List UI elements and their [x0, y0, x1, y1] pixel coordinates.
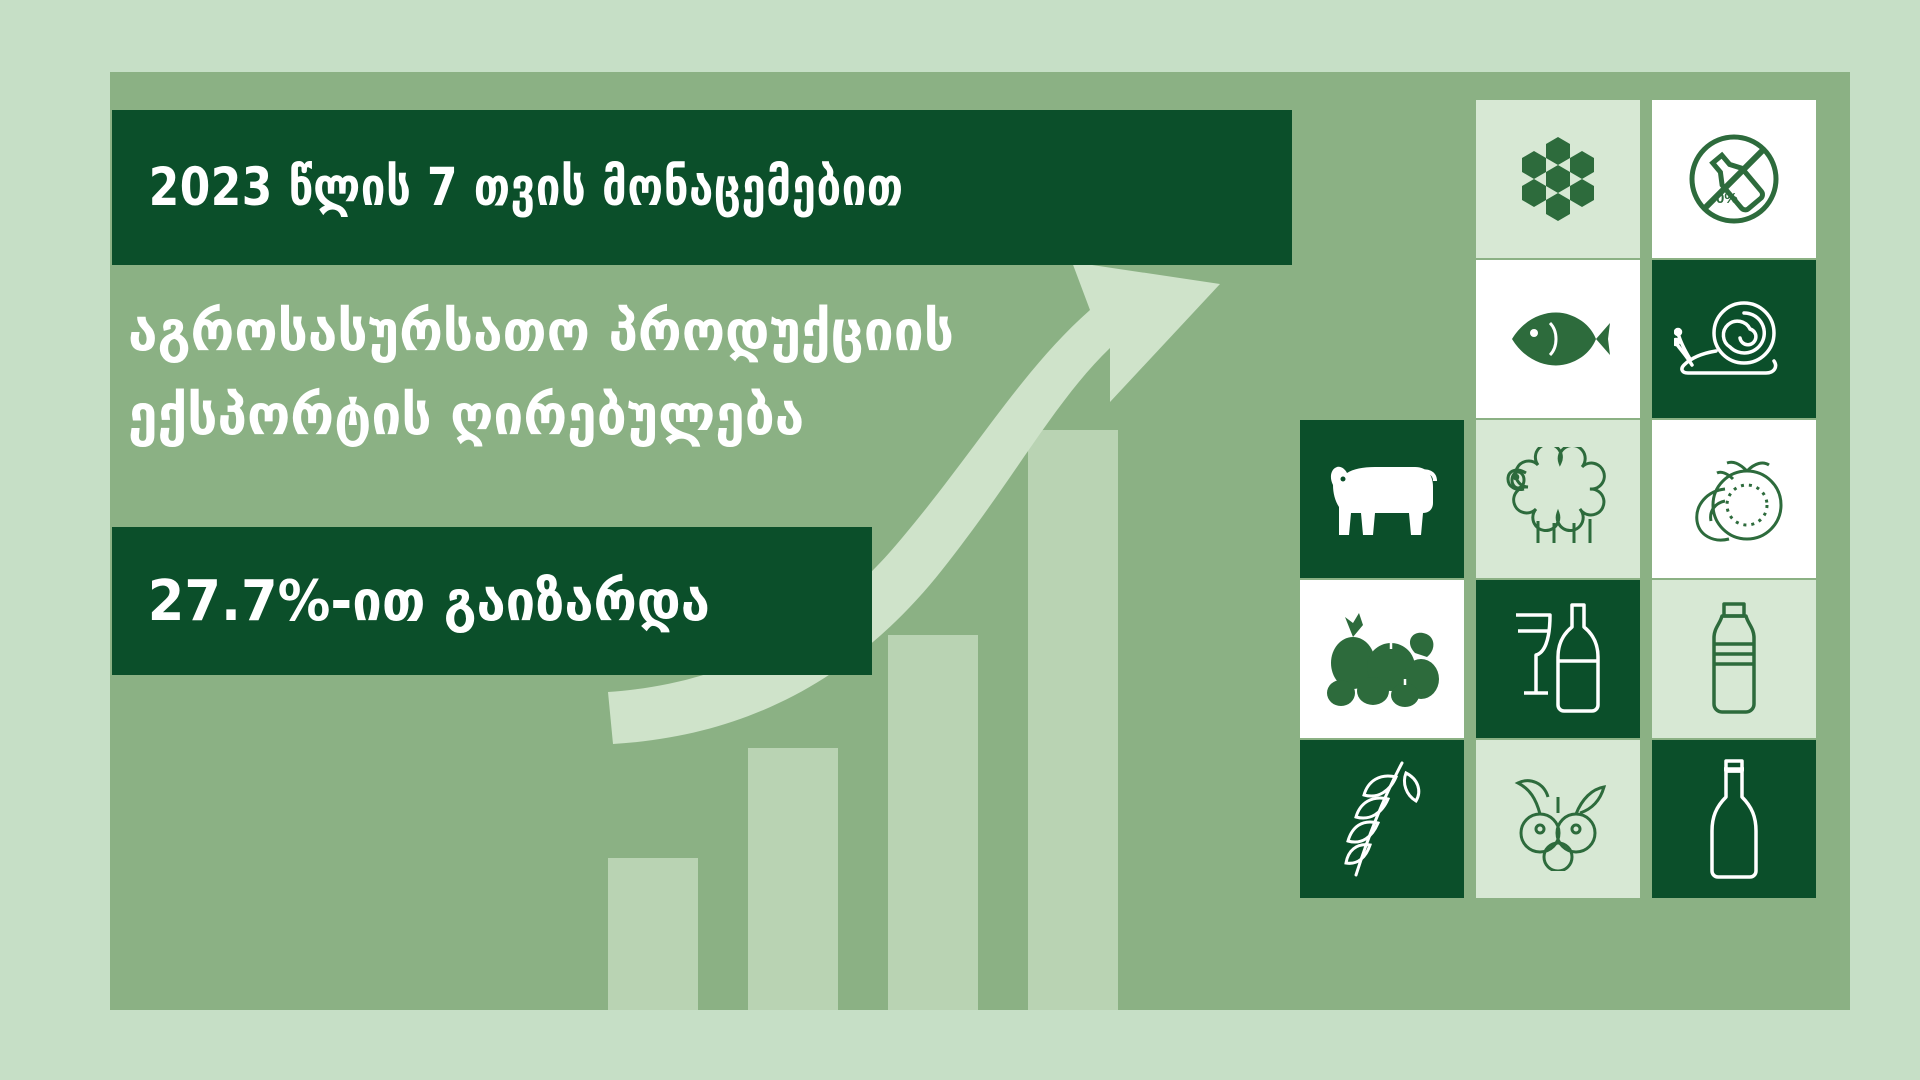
cow-icon [1323, 451, 1441, 547]
oil-bottle-icon [1702, 757, 1766, 881]
product-icon-grid: 0% [1290, 100, 1880, 990]
headline-line-1: აგროსასურსათო პროდუქციის [128, 290, 1192, 374]
sheep-icon [1498, 447, 1618, 551]
water-bottle-icon [1698, 600, 1770, 718]
herb-branch-icon [1330, 757, 1434, 881]
zero-percent-badge: 0% [1716, 190, 1738, 207]
tile-water [1652, 580, 1816, 738]
honeycomb-icon [1512, 133, 1604, 225]
tile-herbs [1300, 740, 1464, 898]
tile-sheep [1476, 420, 1640, 578]
tile-cow [1300, 420, 1464, 578]
tile-fish [1476, 260, 1640, 418]
no-bottle-zero-percent-icon: 0% [1682, 127, 1786, 231]
snail-icon [1674, 293, 1794, 385]
fish-icon [1504, 301, 1612, 377]
tile-fruits [1300, 580, 1464, 738]
title-bar: 2023 წლის 7 თვის მონაცემებით [112, 110, 1292, 265]
tile-snail [1652, 260, 1816, 418]
stat-bar: 27.7%-ით გაიზარდა [112, 527, 872, 675]
headline-line-2: ექსპორტის ღირებულება [128, 374, 1192, 458]
tile-vegetables [1652, 420, 1816, 578]
tile-oil-bottle [1652, 740, 1816, 898]
infographic-canvas: 2023 წლის 7 თვის მონაცემებით აგროსასურსა… [0, 0, 1920, 1080]
fruit-basket-icon [1319, 607, 1445, 711]
tile-berries [1476, 740, 1640, 898]
title-text: 2023 წლის 7 თვის მონაცემებით [112, 157, 904, 218]
stat-value-text: 27.7%-ით გაიზარდა [112, 569, 710, 634]
tomato-melon-icon [1673, 449, 1795, 549]
headline: აგროსასურსათო პროდუქციის ექსპორტის ღირებ… [128, 290, 1248, 458]
tile-no-alcohol: 0% [1652, 100, 1816, 258]
tile-wine [1476, 580, 1640, 738]
wine-glass-bottle-icon [1506, 601, 1610, 717]
tile-honey [1476, 100, 1640, 258]
berries-icon [1500, 767, 1616, 871]
